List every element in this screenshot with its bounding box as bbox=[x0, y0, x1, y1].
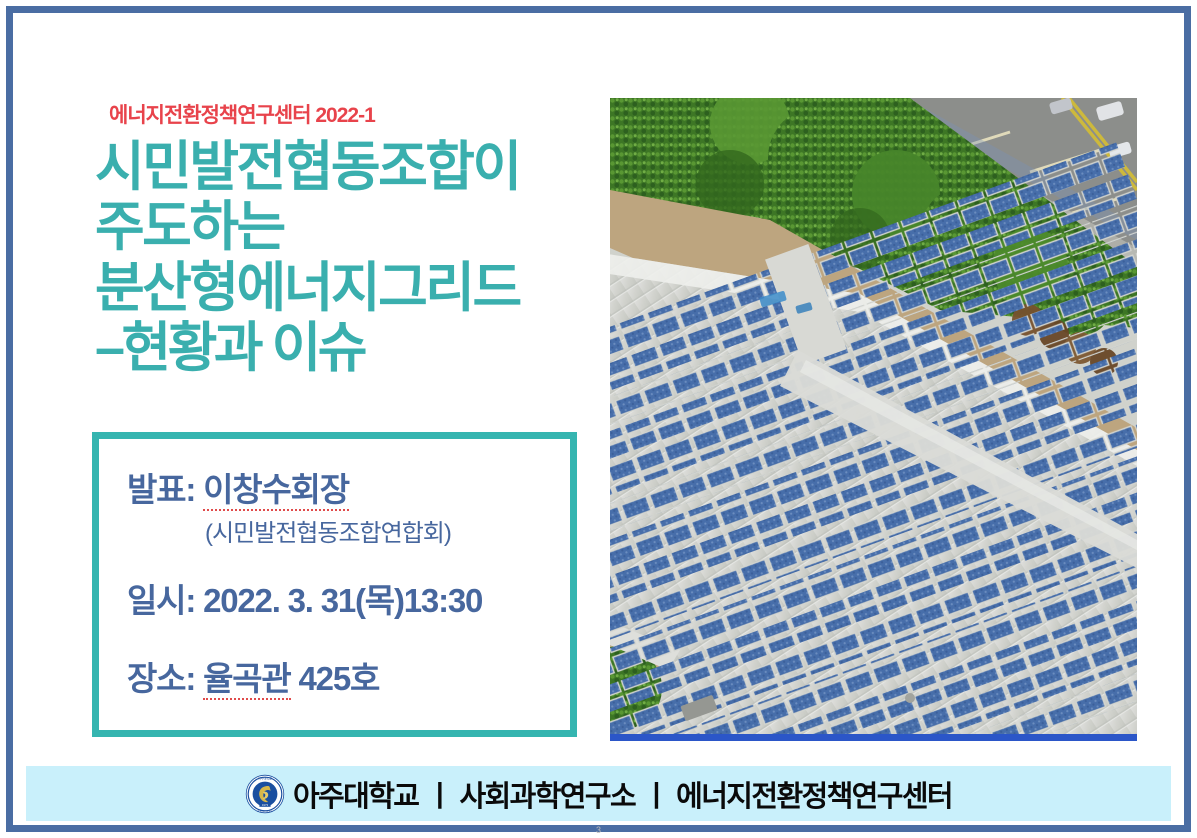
title-line-3: 분산형에너지그리드 bbox=[95, 258, 605, 318]
slide-frame-border: 에너지전환정책연구센터 2022-1 시민발전협동조합이 주도하는 분산형에너지… bbox=[6, 6, 1191, 832]
venue-building: 율곡관 bbox=[203, 660, 290, 700]
event-details-rows: 발표: 이창수회장 (시민발전협동조합연합회) 일시: 2022. 3. 31(… bbox=[127, 463, 560, 706]
datetime-label: 일시: bbox=[127, 582, 195, 619]
datetime-value: 2022. 3. 31(목)13:30 bbox=[203, 582, 482, 619]
footer-org-energy-center: 에너지전환정책연구센터 bbox=[676, 773, 952, 815]
page-title: 시민발전협동조합이 주도하는 분산형에너지그리드 –현황과 이슈 bbox=[95, 137, 605, 379]
series-kicker-label: 에너지전환정책연구센터 2022-1 bbox=[109, 99, 375, 129]
footer-org-social-science: 사회과학연구소 bbox=[459, 773, 635, 815]
footer-separator-2: ㅣ bbox=[643, 773, 668, 815]
footer-separator-1: ㅣ bbox=[426, 773, 451, 815]
footer-org-ajou: 아주대학교 bbox=[293, 773, 418, 815]
page-number: 3 bbox=[13, 825, 1184, 835]
svg-text:1973: 1973 bbox=[262, 803, 269, 807]
venue-row: 장소: 율곡관 425호 bbox=[127, 652, 560, 700]
solar-panel-photo bbox=[610, 98, 1137, 741]
svg-text:아주대학교: 아주대학교 bbox=[258, 775, 272, 780]
photo-bottom-accent-bar bbox=[610, 734, 1137, 741]
title-line-4: –현황과 이슈 bbox=[95, 318, 605, 378]
footer-content: 1973 아주대학교 AJOU UNIV. 아주대학교 ㅣ 사회과학연구소 ㅣ … bbox=[26, 766, 1171, 821]
presenter-row: 발표: 이창수회장 bbox=[127, 463, 560, 511]
datetime-row: 일시: 2022. 3. 31(목)13:30 bbox=[127, 574, 560, 622]
ajou-university-seal-icon: 1973 아주대학교 AJOU UNIV. bbox=[245, 774, 285, 814]
seminar-poster-slide: 에너지전환정책연구센터 2022-1 시민발전협동조합이 주도하는 분산형에너지… bbox=[0, 0, 1197, 838]
title-line-2: 주도하는 bbox=[95, 197, 605, 257]
presenter-affiliation: (시민발전협동조합연합회) bbox=[205, 513, 560, 548]
solar-photo-illustration bbox=[610, 98, 1137, 741]
event-details-box: 발표: 이창수회장 (시민발전협동조합연합회) 일시: 2022. 3. 31(… bbox=[92, 432, 577, 737]
venue-room: 425호 bbox=[299, 660, 380, 697]
svg-text:AJOU UNIV.: AJOU UNIV. bbox=[257, 809, 273, 813]
venue-label: 장소: bbox=[127, 660, 195, 697]
presenter-name: 이창수회장 bbox=[203, 471, 349, 511]
footer-band: 1973 아주대학교 AJOU UNIV. 아주대학교 ㅣ 사회과학연구소 ㅣ … bbox=[26, 766, 1171, 821]
title-line-1: 시민발전협동조합이 bbox=[95, 137, 605, 197]
presenter-label: 발표: bbox=[127, 471, 195, 508]
